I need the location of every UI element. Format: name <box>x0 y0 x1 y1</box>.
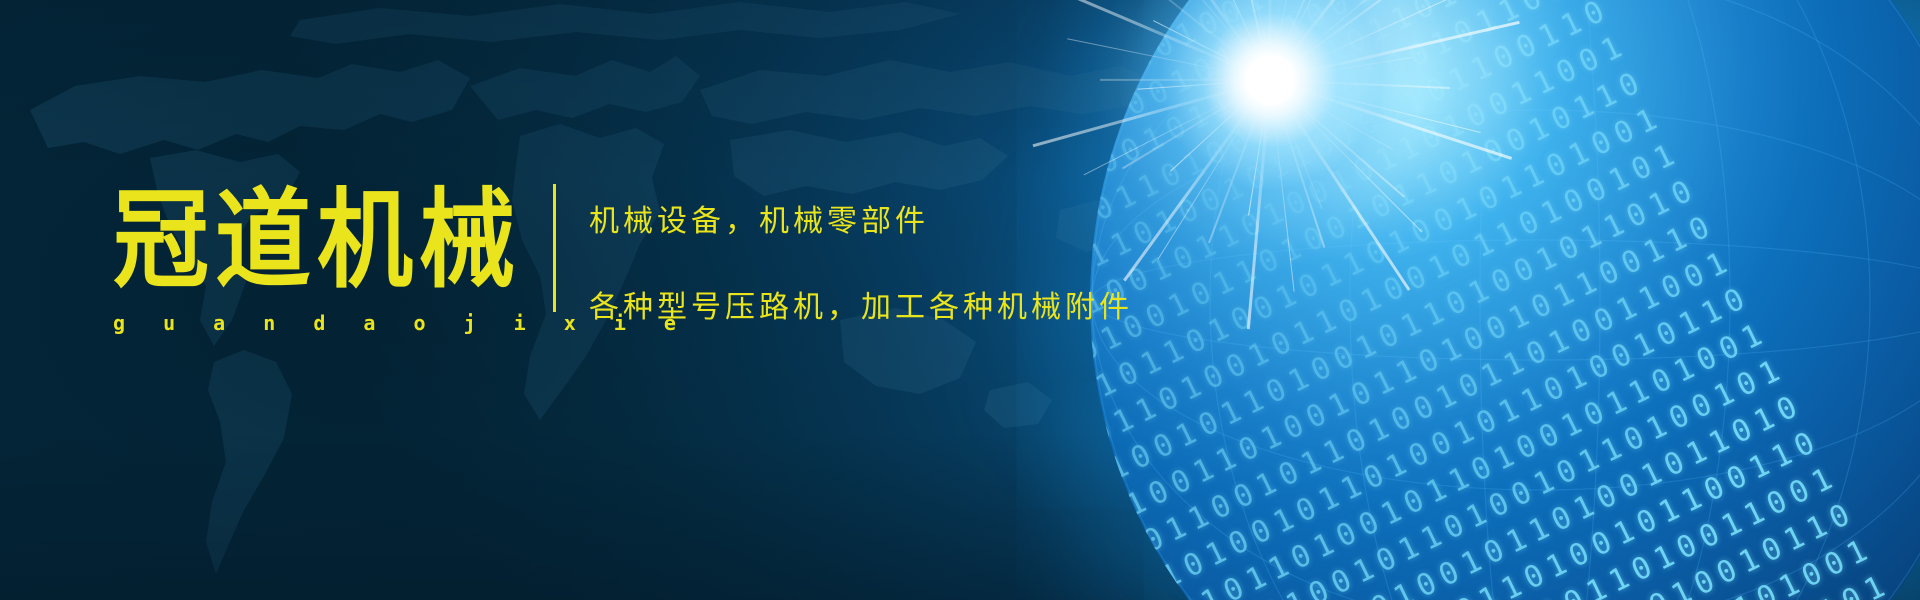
company-name-cn: 冠道机械 <box>113 183 533 299</box>
hero-banner: 10010110100101101001011010010110 0110100… <box>0 0 1920 600</box>
vertical-divider <box>553 184 556 312</box>
slogan-block: 机械设备，机械零部件 各种型号压路机，加工各种机械附件 <box>589 196 1133 326</box>
company-name-pinyin: g u a n d a o j i x i e <box>113 311 533 335</box>
company-logo: 冠道机械 g u a n d a o j i x i e <box>113 183 533 335</box>
slogan-line-1: 机械设备，机械零部件 <box>589 196 1133 240</box>
slogan-line-2: 各种型号压路机，加工各种机械附件 <box>589 282 1133 326</box>
banner-content: 冠道机械 g u a n d a o j i x i e 机械设备，机械零部件 … <box>0 0 1920 600</box>
